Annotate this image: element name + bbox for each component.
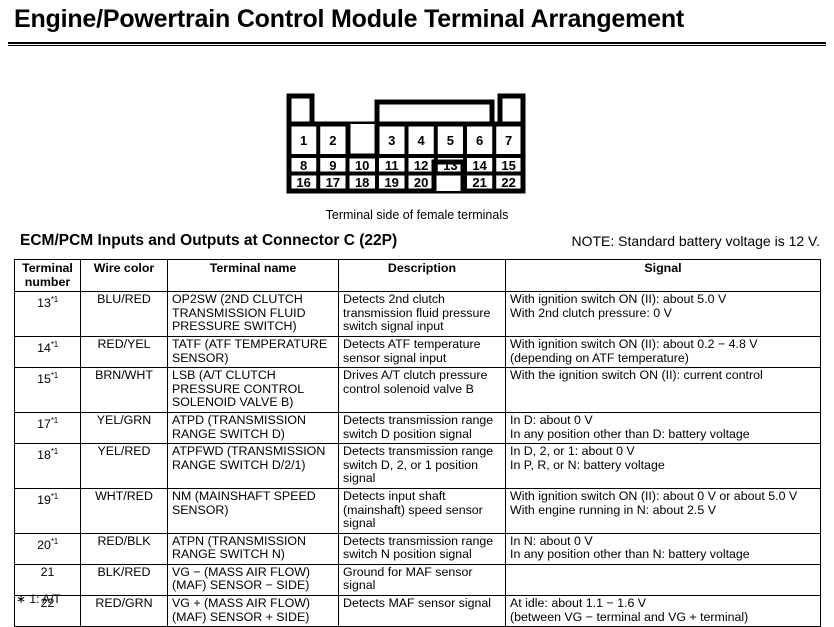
- connector-pin-8: 8: [300, 158, 307, 173]
- signal-line: With ignition switch ON (II): about 5.0 …: [510, 293, 816, 307]
- description-line: control solenoid valve B: [343, 383, 501, 397]
- table-row: 17*1YEL/GRNATPD (TRANSMISSIONRANGE SWITC…: [15, 412, 821, 443]
- connector-pin-13: 13: [443, 158, 457, 173]
- terminal-name-line: TATF (ATF TEMPERATURE: [172, 338, 334, 352]
- connector-pin-9: 9: [329, 158, 336, 173]
- footnote-marker: *1: [51, 295, 58, 304]
- table-header: Terminal number Wire color Terminal name…: [15, 260, 821, 292]
- section-note: NOTE: Standard battery voltage is 12 V.: [571, 233, 820, 249]
- footnote: ∗ 1: A/T: [16, 592, 61, 606]
- pin-table-container: Terminal number Wire color Terminal name…: [14, 259, 820, 627]
- connector-pin-4: 4: [417, 133, 425, 148]
- cell-terminal-number: 14*1: [15, 336, 81, 367]
- pin-table: Terminal number Wire color Terminal name…: [14, 259, 821, 627]
- description-line: transmission fluid pressure: [343, 307, 501, 321]
- cell-description: Detects transmission rangeswitch D, 2, o…: [339, 444, 506, 489]
- connector-pin-2: 2: [329, 133, 336, 148]
- section-title: ECM/PCM Inputs and Outputs at Connector …: [20, 232, 397, 250]
- cell-terminal-number: 13*1: [15, 292, 81, 337]
- table-row: 15*1BRN/WHTLSB (A/T CLUTCHPRESSURE CONTR…: [15, 368, 821, 413]
- terminal-name-line: OP2SW (2ND CLUTCH: [172, 293, 334, 307]
- footnote-marker: *1: [51, 416, 58, 425]
- description-line: switch D position signal: [343, 428, 501, 442]
- signal-line: With the ignition switch ON (II): curren…: [510, 369, 816, 383]
- terminal-name-line: LSB (A/T CLUTCH: [172, 369, 334, 383]
- cell-terminal-name: TATF (ATF TEMPERATURESENSOR): [168, 336, 339, 367]
- signal-line: With ignition switch ON (II): about 0.2 …: [510, 338, 816, 352]
- connector-pin-11: 11: [385, 158, 399, 173]
- cell-description: Ground for MAF sensorsignal: [339, 564, 506, 595]
- table-row: 22RED/GRNVG + (MASS AIR FLOW)(MAF) SENSO…: [15, 596, 821, 627]
- terminal-name-line: PRESSURE CONTROL: [172, 383, 334, 397]
- cell-terminal-name: VG − (MASS AIR FLOW)(MAF) SENSOR − SIDE): [168, 564, 339, 595]
- connector-pin-19: 19: [384, 175, 398, 190]
- cell-terminal-number: 21: [15, 564, 81, 595]
- signal-line: (between VG − terminal and VG + terminal…: [510, 611, 816, 625]
- signal-line: [510, 566, 816, 580]
- connector-pin-15: 15: [501, 158, 515, 173]
- terminal-name-line: (MAF) SENSOR − SIDE): [172, 579, 334, 593]
- connector-caption: Terminal side of female terminals: [0, 208, 834, 223]
- section-header: ECM/PCM Inputs and Outputs at Connector …: [14, 232, 820, 252]
- cell-signal: In N: about 0 VIn any position other tha…: [506, 533, 821, 564]
- table-row: 19*1WHT/REDNM (MAINSHAFT SPEEDSENSOR)Det…: [15, 488, 821, 533]
- terminal-name-line: RANGE SWITCH N): [172, 548, 334, 562]
- cell-wire-color: BLK/RED: [81, 564, 168, 595]
- table-row: 14*1RED/YELTATF (ATF TEMPERATURESENSOR)D…: [15, 336, 821, 367]
- connector-diagram: 1 2 3 4 5 6 7 8 9 10 11 12 13 14 15 16 1…: [286, 82, 526, 194]
- cell-description: Detects transmission rangeswitch D posit…: [339, 412, 506, 443]
- connector-pin-12: 12: [414, 158, 428, 173]
- connector-top-notch: [348, 124, 377, 156]
- cell-description: Detects MAF sensor signal: [339, 596, 506, 627]
- terminal-name-line: ATPFWD (TRANSMISSION: [172, 445, 334, 459]
- footnote-marker: *1: [51, 447, 58, 456]
- signal-line: In any position other than N: battery vo…: [510, 548, 816, 562]
- description-line: sensor signal input: [343, 352, 501, 366]
- connector-pin-1: 1: [300, 133, 307, 148]
- description-line: switch signal input: [343, 320, 501, 334]
- terminal-name-line: ATPD (TRANSMISSION: [172, 414, 334, 428]
- description-line: Detects ATF temperature: [343, 338, 501, 352]
- cell-description: Detects ATF temperaturesensor signal inp…: [339, 336, 506, 367]
- cell-signal: With ignition switch ON (II): about 5.0 …: [506, 292, 821, 337]
- terminal-name-line: RANGE SWITCH D): [172, 428, 334, 442]
- description-line: (mainshaft) speed sensor: [343, 504, 501, 518]
- connector-svg: 1 2 3 4 5 6 7 8 9 10 11 12 13 14 15 16 1…: [286, 82, 526, 194]
- cell-wire-color: YEL/GRN: [81, 412, 168, 443]
- cell-signal: With ignition switch ON (II): about 0 V …: [506, 488, 821, 533]
- terminal-name-line: ATPN (TRANSMISSION: [172, 535, 334, 549]
- footnote-marker: *1: [51, 371, 58, 380]
- description-line: switch N position signal: [343, 548, 501, 562]
- description-line: Detects transmission range: [343, 535, 501, 549]
- column-header-wire-color: Wire color: [81, 260, 168, 292]
- terminal-name-line: SENSOR): [172, 504, 334, 518]
- cell-terminal-name: VG + (MASS AIR FLOW)(MAF) SENSOR + SIDE): [168, 596, 339, 627]
- footnote-marker: *1: [51, 340, 58, 349]
- description-line: Detects transmission range: [343, 445, 501, 459]
- cell-terminal-name: ATPN (TRANSMISSIONRANGE SWITCH N): [168, 533, 339, 564]
- description-line: Detects transmission range: [343, 414, 501, 428]
- cell-terminal-number: 15*1: [15, 368, 81, 413]
- signal-line: With 2nd clutch pressure: 0 V: [510, 307, 816, 321]
- title-divider: [8, 42, 826, 46]
- cell-description: Drives A/T clutch pressurecontrol soleno…: [339, 368, 506, 413]
- column-header-terminal-name: Terminal name: [168, 260, 339, 292]
- description-line: signal: [343, 517, 501, 531]
- column-header-terminal-number: Terminal number: [15, 260, 81, 292]
- page-title: Engine/Powertrain Control Module Termina…: [14, 4, 820, 34]
- signal-line: In P, R, or N: battery voltage: [510, 459, 816, 473]
- cell-wire-color: RED/GRN: [81, 596, 168, 627]
- cell-description: Detects 2nd clutchtransmission fluid pre…: [339, 292, 506, 337]
- cell-description: Detects input shaft(mainshaft) speed sen…: [339, 488, 506, 533]
- cell-terminal-number: 19*1: [15, 488, 81, 533]
- cell-signal: With the ignition switch ON (II): curren…: [506, 368, 821, 413]
- cell-terminal-name: NM (MAINSHAFT SPEEDSENSOR): [168, 488, 339, 533]
- connector-pin-17: 17: [326, 175, 340, 190]
- terminal-name-line: VG − (MASS AIR FLOW): [172, 566, 334, 580]
- cell-wire-color: RED/BLK: [81, 533, 168, 564]
- terminal-name-line: (MAF) SENSOR + SIDE): [172, 611, 334, 625]
- signal-line: In N: about 0 V: [510, 535, 816, 549]
- connector-pin-22: 22: [501, 175, 515, 190]
- cell-terminal-name: ATPD (TRANSMISSIONRANGE SWITCH D): [168, 412, 339, 443]
- terminal-name-line: TRANSMISSION FLUID: [172, 307, 334, 321]
- connector-pin-18: 18: [355, 175, 369, 190]
- cell-signal: In D: about 0 VIn any position other tha…: [506, 412, 821, 443]
- connector-top-bridge: [377, 102, 492, 124]
- cell-terminal-number: 18*1: [15, 444, 81, 489]
- cell-terminal-number: 20*1: [15, 533, 81, 564]
- connector-pin-6: 6: [476, 133, 483, 148]
- signal-line: With ignition switch ON (II): about 0 V …: [510, 490, 816, 504]
- connector-pin-7: 7: [505, 133, 512, 148]
- cell-signal: At idle: about 1.1 − 1.6 V(between VG − …: [506, 596, 821, 627]
- cell-signal: [506, 564, 821, 595]
- description-line: signal: [343, 579, 501, 593]
- signal-line: In D: about 0 V: [510, 414, 816, 428]
- signal-line: In any position other than D: battery vo…: [510, 428, 816, 442]
- cell-wire-color: YEL/RED: [81, 444, 168, 489]
- connector-pin-10: 10: [355, 158, 369, 173]
- connector-pin-21: 21: [472, 175, 486, 190]
- description-line: signal: [343, 472, 501, 486]
- signal-line: (depending on ATF temperature): [510, 352, 816, 366]
- terminal-name-line: SOLENOID VALVE B): [172, 396, 334, 410]
- cell-terminal-name: ATPFWD (TRANSMISSIONRANGE SWITCH D/2/1): [168, 444, 339, 489]
- connector-pin-3: 3: [388, 133, 395, 148]
- connector-pin-5: 5: [447, 133, 454, 148]
- connector-pin-14: 14: [472, 158, 487, 173]
- footnote-marker: *1: [51, 492, 58, 501]
- column-header-signal: Signal: [506, 260, 821, 292]
- description-line: Detects 2nd clutch: [343, 293, 501, 307]
- terminal-name-line: PRESSURE SWITCH): [172, 320, 334, 334]
- cell-terminal-name: OP2SW (2ND CLUTCHTRANSMISSION FLUIDPRESS…: [168, 292, 339, 337]
- cell-wire-color: BLU/RED: [81, 292, 168, 337]
- terminal-name-line: NM (MAINSHAFT SPEED: [172, 490, 334, 504]
- column-header-description: Description: [339, 260, 506, 292]
- terminal-name-line: RANGE SWITCH D/2/1): [172, 459, 334, 473]
- table-header-row: Terminal number Wire color Terminal name…: [15, 260, 821, 292]
- cell-wire-color: WHT/RED: [81, 488, 168, 533]
- cell-signal: With ignition switch ON (II): about 0.2 …: [506, 336, 821, 367]
- table-row: 13*1BLU/REDOP2SW (2ND CLUTCHTRANSMISSION…: [15, 292, 821, 337]
- connector-pin-20: 20: [414, 175, 428, 190]
- table-row: 20*1RED/BLKATPN (TRANSMISSIONRANGE SWITC…: [15, 533, 821, 564]
- signal-line: With engine running in N: about 2.5 V: [510, 504, 816, 518]
- connector-pin-16: 16: [296, 175, 310, 190]
- table-row: 18*1YEL/REDATPFWD (TRANSMISSIONRANGE SWI…: [15, 444, 821, 489]
- cell-signal: In D, 2, or 1: about 0 VIn P, R, or N: b…: [506, 444, 821, 489]
- terminal-name-line: SENSOR): [172, 352, 334, 366]
- description-line: Detects input shaft: [343, 490, 501, 504]
- description-line: switch D, 2, or 1 position: [343, 459, 501, 473]
- description-line: Ground for MAF sensor: [343, 566, 501, 580]
- signal-line: In D, 2, or 1: about 0 V: [510, 445, 816, 459]
- cell-description: Detects transmission rangeswitch N posit…: [339, 533, 506, 564]
- cell-wire-color: BRN/WHT: [81, 368, 168, 413]
- description-line: Drives A/T clutch pressure: [343, 369, 501, 383]
- footnote-marker: *1: [51, 537, 58, 546]
- table-row: 21BLK/REDVG − (MASS AIR FLOW)(MAF) SENSO…: [15, 564, 821, 595]
- cell-terminal-name: LSB (A/T CLUTCHPRESSURE CONTROLSOLENOID …: [168, 368, 339, 413]
- cell-wire-color: RED/YEL: [81, 336, 168, 367]
- table-body: 13*1BLU/REDOP2SW (2ND CLUTCHTRANSMISSION…: [15, 292, 821, 627]
- cell-terminal-number: 17*1: [15, 412, 81, 443]
